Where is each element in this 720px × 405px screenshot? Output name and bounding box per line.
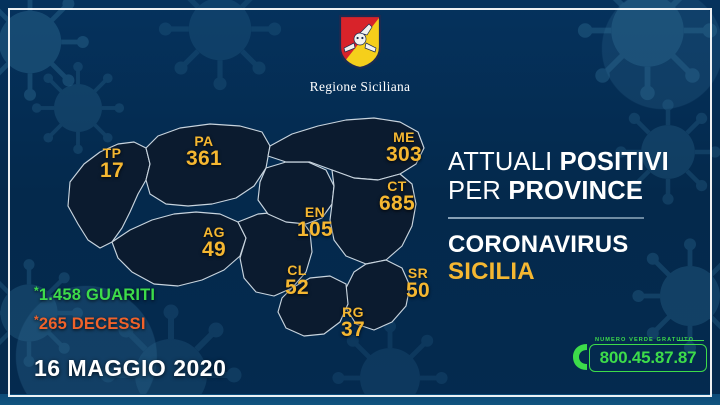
province-code: SR	[406, 266, 430, 280]
province-code: CL	[285, 263, 309, 277]
province-value: 303	[386, 144, 422, 165]
province-label-me: ME 303	[386, 130, 422, 165]
headline-divider	[448, 217, 644, 219]
emblem-block: Regione Siciliana	[0, 13, 720, 95]
poster-root: Regione Siciliana	[0, 0, 720, 405]
province-value: 49	[202, 239, 226, 260]
province-code: RG	[341, 305, 365, 319]
stats-block: *1.458 GUARITI *265 DECESSI	[34, 285, 155, 342]
headline-line2-light: PER	[448, 177, 508, 205]
bottom-band	[0, 394, 720, 405]
headline-main: ATTUALI POSITIVI PER PROVINCE	[448, 148, 700, 206]
province-code: EN	[297, 205, 333, 219]
province-label-rg: RG 37	[341, 305, 365, 340]
headline-line2-bold: PROVINCE	[508, 177, 643, 205]
province-value: 361	[186, 148, 222, 169]
province-label-tp: TP 17	[100, 146, 124, 181]
date-label: 16 MAGGIO 2020	[34, 355, 226, 382]
province-code: ME	[386, 130, 422, 144]
province-value: 105	[297, 219, 333, 240]
province-value: 685	[379, 193, 415, 214]
province-value: 52	[285, 277, 309, 298]
province-label-ct: CT 685	[379, 179, 415, 214]
province-value: 17	[100, 160, 124, 181]
emblem-caption: Regione Siciliana	[0, 79, 720, 95]
province-code: PA	[186, 134, 222, 148]
headline-panel: ATTUALI POSITIVI PER PROVINCE CORONAVIRU…	[448, 148, 700, 285]
province-label-ag: AG 49	[202, 225, 226, 260]
phone-label-rule	[677, 340, 704, 341]
phone-number: 800.45.87.87	[590, 345, 706, 371]
subtitle-sicilia: SICILIA	[448, 259, 700, 286]
stat-deaths-text: 265 DECESSI	[39, 315, 146, 333]
headline-line1-bold: POSITIVI	[560, 148, 669, 176]
province-label-sr: SR 50	[406, 266, 430, 301]
province-label-en: EN 105	[297, 205, 333, 240]
trinacria-emblem-icon	[337, 13, 383, 76]
province-code: CT	[379, 179, 415, 193]
province-label-cl: CL 52	[285, 263, 309, 298]
province-code: TP	[100, 146, 124, 160]
subtitle-coronavirus: CORONAVIRUS	[448, 232, 700, 259]
headline-line1-light: ATTUALI	[448, 148, 560, 176]
stat-deaths: *265 DECESSI	[34, 314, 155, 333]
stat-recovered: *1.458 GUARITI	[34, 285, 155, 304]
toll-free-phone-badge[interactable]: NUMERO VERDE GRATUITO 800.45.87.87	[567, 336, 707, 380]
province-code: AG	[202, 225, 226, 239]
province-label-pa: PA 361	[186, 134, 222, 169]
stat-recovered-text: 1.458 GUARITI	[39, 286, 155, 304]
province-value: 50	[406, 280, 430, 301]
phone-number-box: 800.45.87.87	[589, 344, 707, 372]
province-value: 37	[341, 319, 365, 340]
